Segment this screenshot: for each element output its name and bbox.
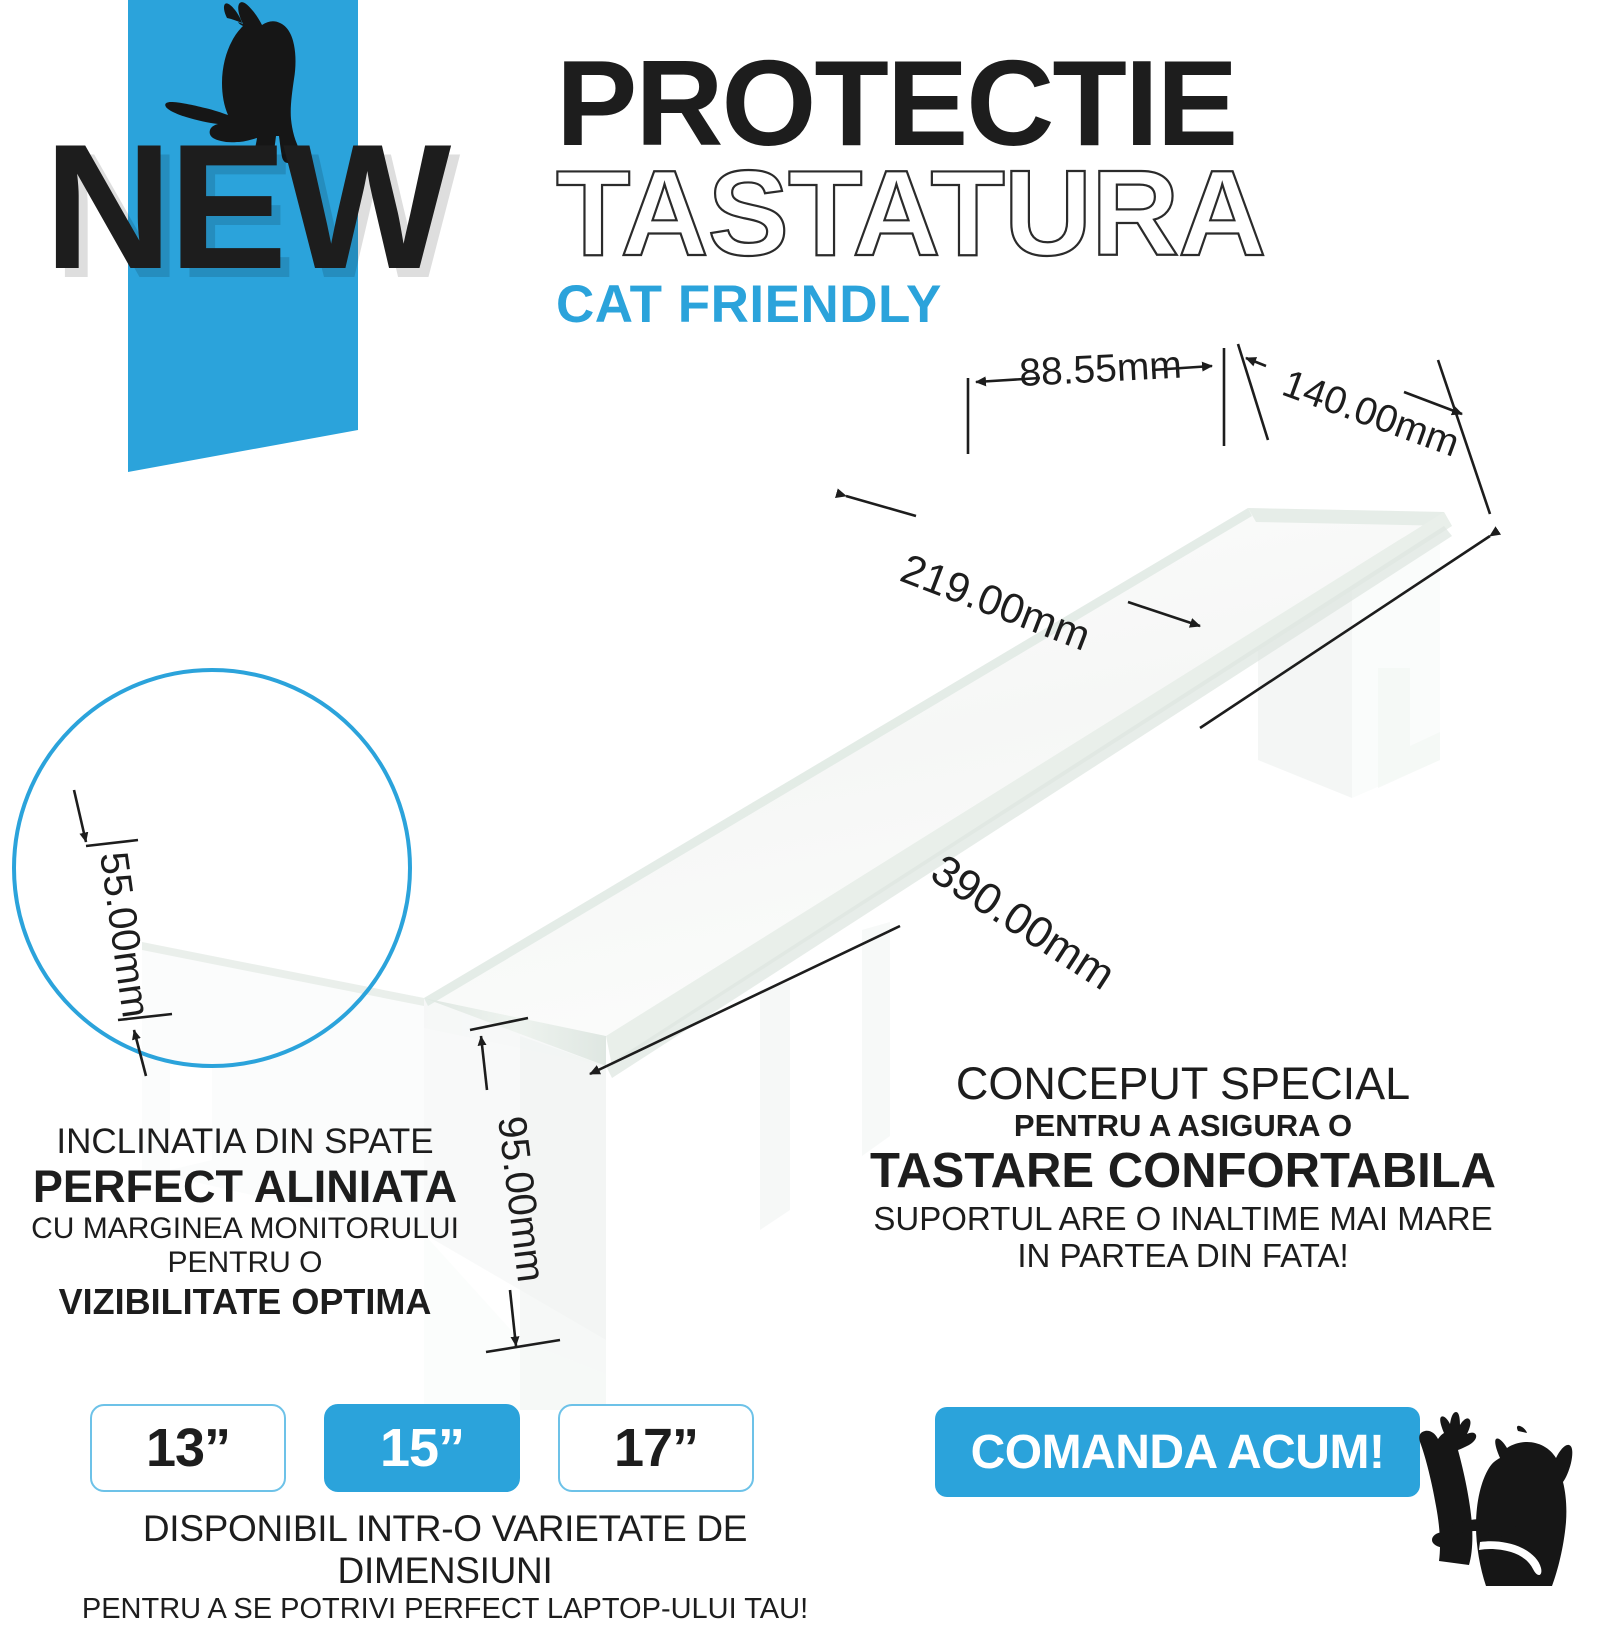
order-now-button[interactable]: COMANDA ACUM! — [935, 1407, 1420, 1497]
dimension-label-390mm: 390.00mm — [923, 845, 1124, 999]
feature-left-line4: PENTRU O — [20, 1246, 470, 1280]
feature-left-line2: PERFECT ALINIATA — [20, 1162, 470, 1212]
reaching-cat-icon — [1392, 1400, 1592, 1600]
feature-block-left: INCLINATIA DIN SPATE PERFECT ALINIATA CU… — [20, 1122, 470, 1322]
size-caption-line2: PENTRU A SE POTRIVI PERFECT LAPTOP-ULUI … — [40, 1592, 850, 1627]
size-caption-line1: DISPONIBIL INTR-O VARIETATE DE DIMENSIUN… — [40, 1508, 850, 1592]
title-line-protectie: PROTECTIE — [556, 46, 1576, 161]
feature-right-line4: SUPORTUL ARE O INALTIME MAI MARE — [838, 1200, 1528, 1238]
infographic-canvas: NEW PROTECTIE TASTATURA CAT FRIENDLY — [0, 0, 1600, 1600]
title-line-tastatura: TASTATURA — [556, 155, 1576, 272]
dimension-label-140mm: 140.00mm — [1277, 362, 1465, 465]
size-caption: DISPONIBIL INTR-O VARIETATE DE DIMENSIUN… — [40, 1508, 850, 1627]
size-selector: 13” 15” 17” — [90, 1404, 754, 1492]
dimension-88-55mm: 88.55mm — [968, 344, 1224, 454]
dimension-label-219mm: 219.00mm — [895, 545, 1097, 660]
dimension-label-55mm: 55.00mm — [91, 849, 158, 1020]
dimension-140mm: 140.00mm — [1238, 344, 1490, 514]
feature-left-line1: INCLINATIA DIN SPATE — [20, 1122, 470, 1162]
dimension-label-88-55mm: 88.55mm — [1018, 344, 1183, 395]
title-line-cat-friendly: CAT FRIENDLY — [556, 278, 1576, 331]
new-label: NEW — [44, 118, 447, 296]
size-option-17[interactable]: 17” — [558, 1404, 754, 1492]
feature-right-line5: IN PARTEA DIN FATA! — [838, 1237, 1528, 1275]
feature-right-line1: CONCEPUT SPECIAL — [838, 1058, 1528, 1109]
size-option-15[interactable]: 15” — [324, 1404, 520, 1492]
page-title: PROTECTIE TASTATURA CAT FRIENDLY — [556, 46, 1576, 331]
feature-right-line2: PENTRU A ASIGURA O — [838, 1109, 1528, 1144]
feature-right-line3: TASTARE CONFORTABILA — [838, 1144, 1528, 1200]
size-option-13[interactable]: 13” — [90, 1404, 286, 1492]
feature-left-line5: VIZIBILITATE OPTIMA — [20, 1281, 470, 1322]
feature-left-line3: CU MARGINEA MONITORULUI — [20, 1212, 470, 1246]
feature-block-right: CONCEPUT SPECIAL PENTRU A ASIGURA O TAST… — [838, 1058, 1528, 1275]
